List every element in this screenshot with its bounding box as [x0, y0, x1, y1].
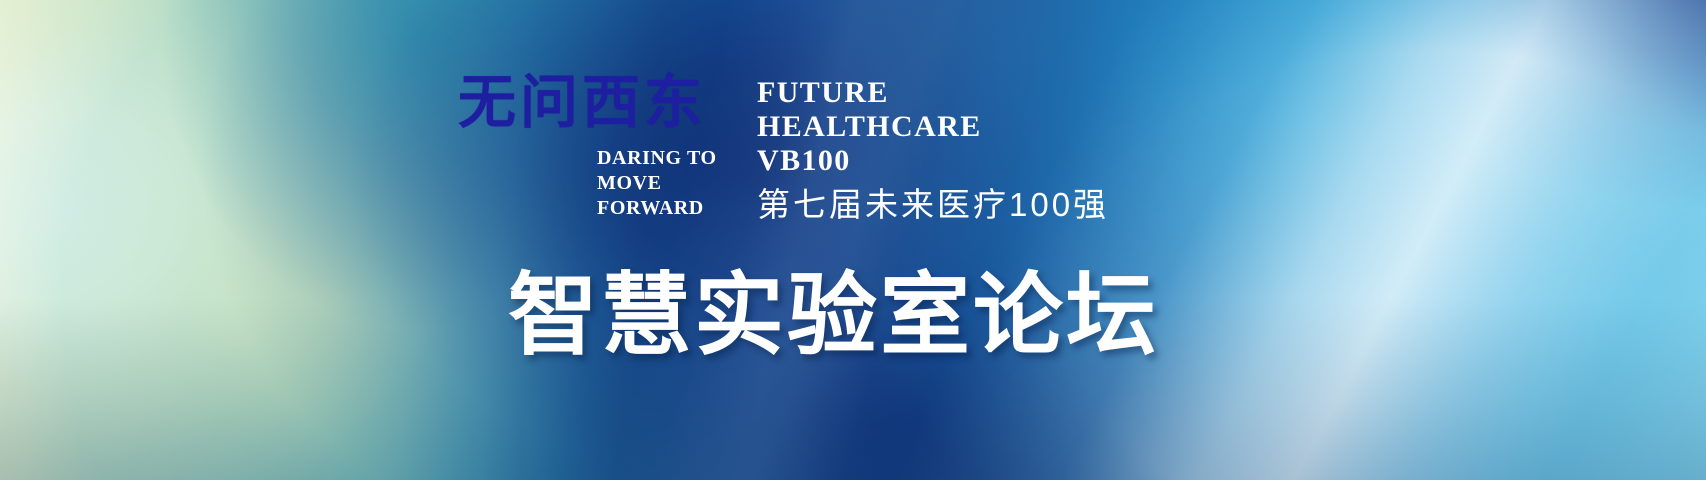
brand-logo-chinese: 无问西东 — [458, 74, 748, 132]
event-english-line-2: HEALTHCARE — [757, 110, 982, 144]
forum-headline: 智慧实验室论坛 — [508, 268, 1159, 364]
banner-content: 无问西东 DARING TO MOVE FORWARD FUTURE HEALT… — [0, 0, 1706, 480]
brand-logo: 无问西东 DARING TO MOVE FORWARD — [458, 74, 748, 132]
brand-tagline-line-1: DARING TO — [597, 146, 717, 171]
event-english-line-3: VB100 — [757, 144, 982, 178]
brand-tagline-line-2: MOVE — [597, 171, 717, 196]
brand-tagline-line-3: FORWARD — [597, 196, 717, 221]
event-chinese-subtitle: 第七届未来医疗100强 — [757, 186, 1109, 224]
event-english-line-1: FUTURE — [757, 76, 982, 110]
brand-tagline: DARING TO MOVE FORWARD — [597, 146, 717, 221]
event-banner: 无问西东 DARING TO MOVE FORWARD FUTURE HEALT… — [0, 0, 1706, 480]
event-english-title: FUTURE HEALTHCARE VB100 — [757, 76, 982, 178]
